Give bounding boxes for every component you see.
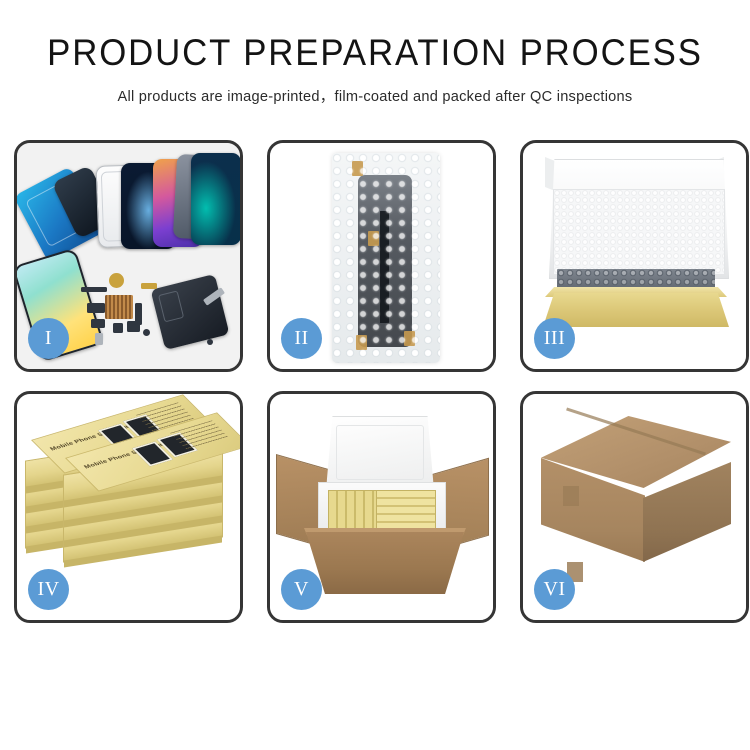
- tape-piece-top: [352, 161, 363, 176]
- part-bracket-a: [87, 303, 105, 313]
- part-speaker-ring: [109, 273, 124, 288]
- part-gold-flex: [141, 283, 157, 289]
- page-title: PRODUCT PREPARATION PROCESS: [23, 34, 728, 73]
- part-screw-a: [143, 329, 150, 336]
- tape-piece-bottom-right: [404, 331, 415, 346]
- wrapped-flex-cable: [380, 211, 389, 323]
- part-antenna-strip: [81, 287, 107, 292]
- step-badge-1: I: [28, 318, 69, 359]
- packed-product-boxes-row-2: [376, 490, 436, 530]
- box-front-panel: [543, 293, 729, 327]
- page-header: PRODUCT PREPARATION PROCESS All products…: [0, 0, 750, 106]
- part-screw-b: [207, 339, 213, 345]
- carton-tape-upper: [563, 486, 579, 506]
- part-bracket-c: [113, 323, 123, 333]
- bubble-wrap-bag: [332, 153, 440, 363]
- part-flex-cable: [135, 303, 142, 325]
- box-stack: Mobile Phone Spare Parts Mobile Phone Sp…: [25, 416, 233, 594]
- carton-body: [306, 532, 464, 594]
- step-badge-4: IV: [28, 569, 69, 610]
- process-step-panel-5: V: [267, 391, 496, 623]
- process-step-panel-3: III: [520, 140, 749, 372]
- step-badge-5: V: [281, 569, 322, 610]
- process-step-panel-2: II: [267, 140, 496, 372]
- part-bracket-b: [91, 319, 105, 328]
- phone-teal-display: [191, 153, 240, 245]
- styrofoam-lid: [326, 416, 434, 490]
- step-badge-3: III: [534, 318, 575, 359]
- process-step-panel-1: I: [14, 140, 243, 372]
- step-badge-6: VI: [534, 569, 575, 610]
- process-steps-grid: I II III: [14, 140, 736, 623]
- tape-piece-mid: [368, 231, 379, 246]
- part-logic-board: [105, 295, 133, 319]
- tape-piece-bottom-left: [356, 335, 367, 350]
- process-step-panel-6: VI: [520, 391, 749, 623]
- page-subtitle: All products are image-printed，film-coat…: [0, 85, 750, 106]
- foam-liner-sheet: [553, 189, 725, 275]
- phone-back-housing: [150, 274, 229, 350]
- step-badge-2: II: [281, 318, 322, 359]
- part-sim-tray: [95, 333, 103, 345]
- process-step-panel-4: Mobile Phone Spare Parts Mobile Phone Sp…: [14, 391, 243, 623]
